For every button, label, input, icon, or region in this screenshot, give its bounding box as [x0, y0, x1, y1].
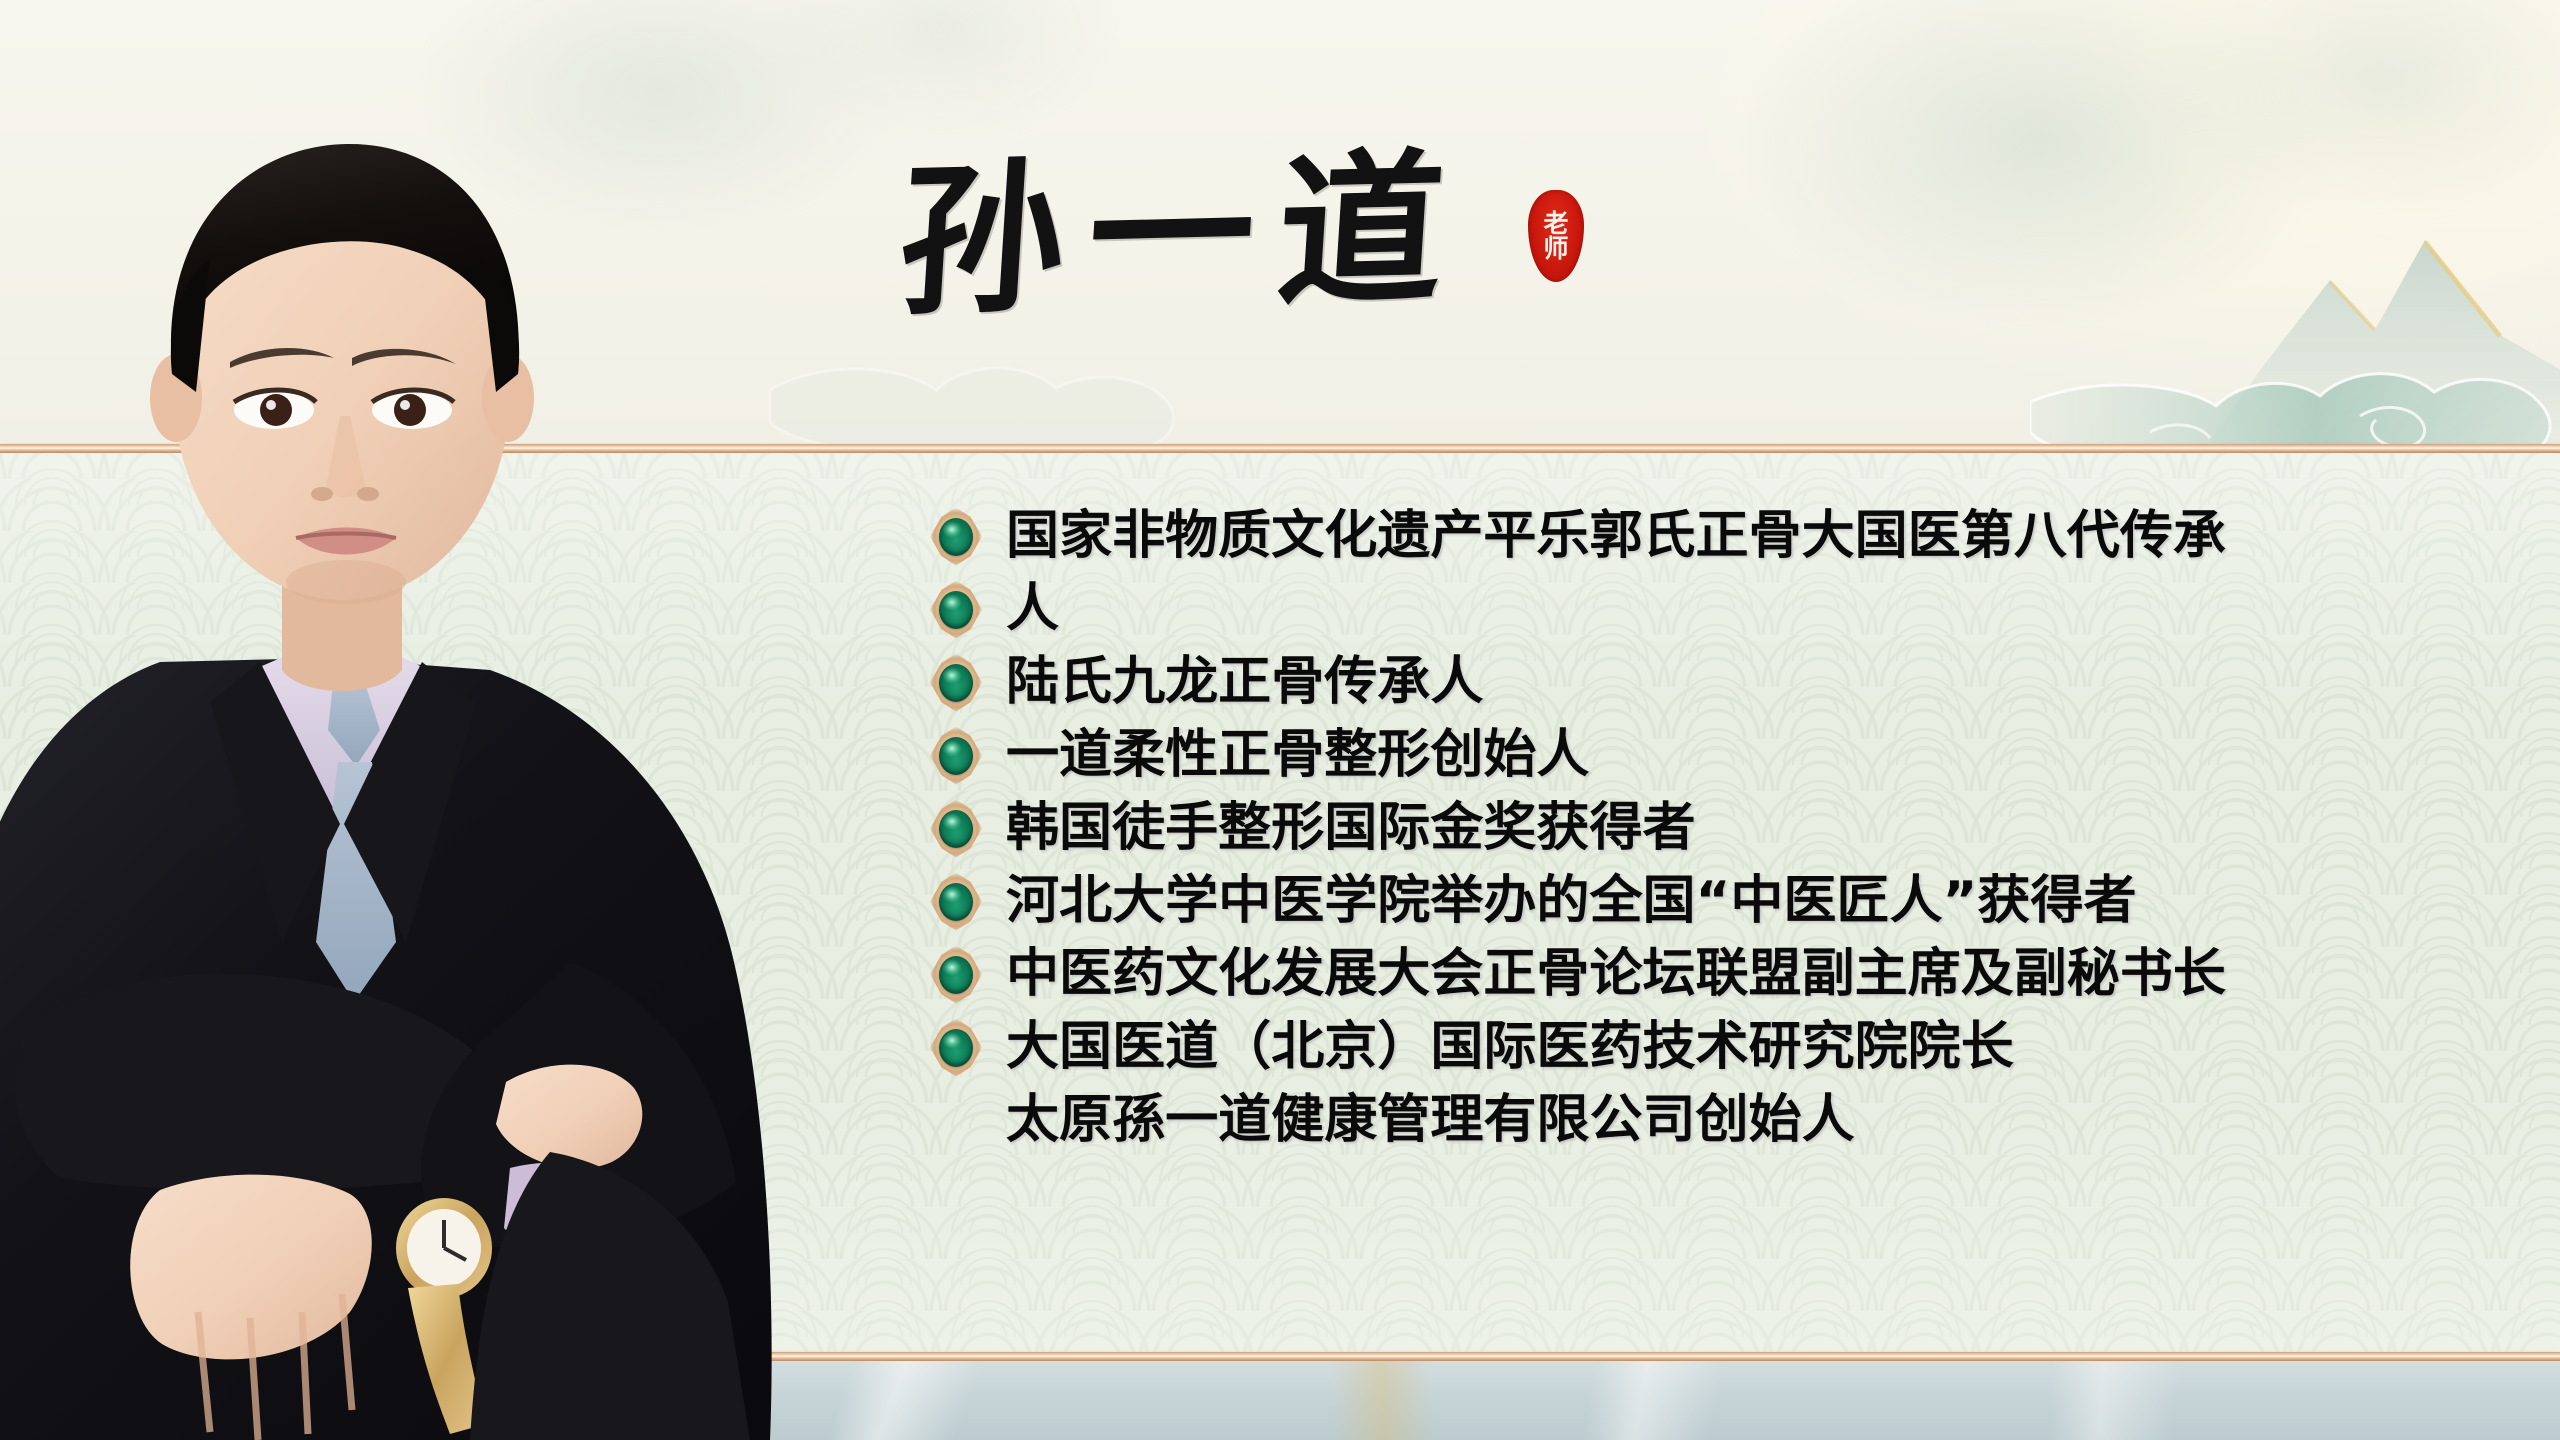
credential-text: 国家非物质文化遗产平乐郭氏正骨大国医第八代传承 — [1006, 509, 2226, 563]
seal-char-bottom: 师 — [1543, 236, 1568, 262]
jade-gem-bullet-icon — [930, 1019, 982, 1077]
slide-root: 孙一道 老 师 — [0, 0, 2560, 1440]
list-item: 陆氏九龙正骨传承人 — [930, 646, 2530, 719]
jade-gem-bullet-icon — [930, 873, 982, 931]
gem-stone-icon — [939, 810, 973, 848]
gem-stone-icon — [939, 518, 973, 556]
gem-stone-icon — [939, 956, 973, 994]
list-item: 一道柔性正骨整形创始人 — [930, 719, 2530, 792]
gem-stone-icon — [939, 591, 973, 629]
jade-gem-bullet-icon — [930, 508, 982, 566]
jade-gem-bullet-icon — [930, 654, 982, 712]
gem-stone-icon — [939, 1029, 973, 1067]
mountain-mist-right-icon — [1740, 0, 2560, 450]
jade-gem-bullet-icon — [930, 727, 982, 785]
list-item: 河北大学中医学院举办的全国“中医匠人”获得者 — [930, 865, 2530, 938]
credential-text: 太原孫一道健康管理有限公司创始人 — [1006, 1093, 1855, 1147]
list-item: 韩国徒手整形国际金奖获得者 — [930, 792, 2530, 865]
jade-gem-bullet-icon — [930, 946, 982, 1004]
credentials-list: 国家非物质文化遗产平乐郭氏正骨大国医第八代传承 人 陆氏九龙正骨传承人 一道柔性… — [930, 500, 2530, 1157]
credential-text: 中医药文化发展大会正骨论坛联盟副主席及副秘书长 — [1006, 947, 2226, 1001]
gem-stone-icon — [939, 664, 973, 702]
jade-gem-bullet-icon — [930, 581, 982, 639]
gem-stone-icon — [939, 883, 973, 921]
jade-gem-bullet-icon — [930, 800, 982, 858]
portrait-container — [0, 0, 900, 1440]
credential-text: 大国医道（北京）国际医药技术研究院院长 — [1006, 1020, 2014, 1074]
list-item: 太原孫一道健康管理有限公司创始人 — [930, 1084, 2530, 1157]
credential-text: 人 — [1006, 582, 1059, 636]
list-item: 大国医道（北京）国际医药技术研究院院长 — [930, 1011, 2530, 1084]
list-item: 中医药文化发展大会正骨论坛联盟副主席及副秘书长 — [930, 938, 2530, 1011]
seal-char-top: 老 — [1543, 211, 1568, 237]
list-item: 国家非物质文化遗产平乐郭氏正骨大国医第八代传承 — [930, 500, 2530, 573]
title-block: 孙一道 老 师 — [900, 150, 1660, 370]
credential-text: 一道柔性正骨整形创始人 — [1006, 728, 1589, 782]
credential-text: 韩国徒手整形国际金奖获得者 — [1006, 801, 1696, 855]
gem-stone-icon — [939, 737, 973, 775]
portrait-photo — [0, 62, 810, 1440]
credential-text: 陆氏九龙正骨传承人 — [1006, 655, 1483, 709]
credential-text: 河北大学中医学院举办的全国“中医匠人”获得者 — [1006, 874, 2137, 928]
list-item: 人 — [930, 573, 2530, 646]
